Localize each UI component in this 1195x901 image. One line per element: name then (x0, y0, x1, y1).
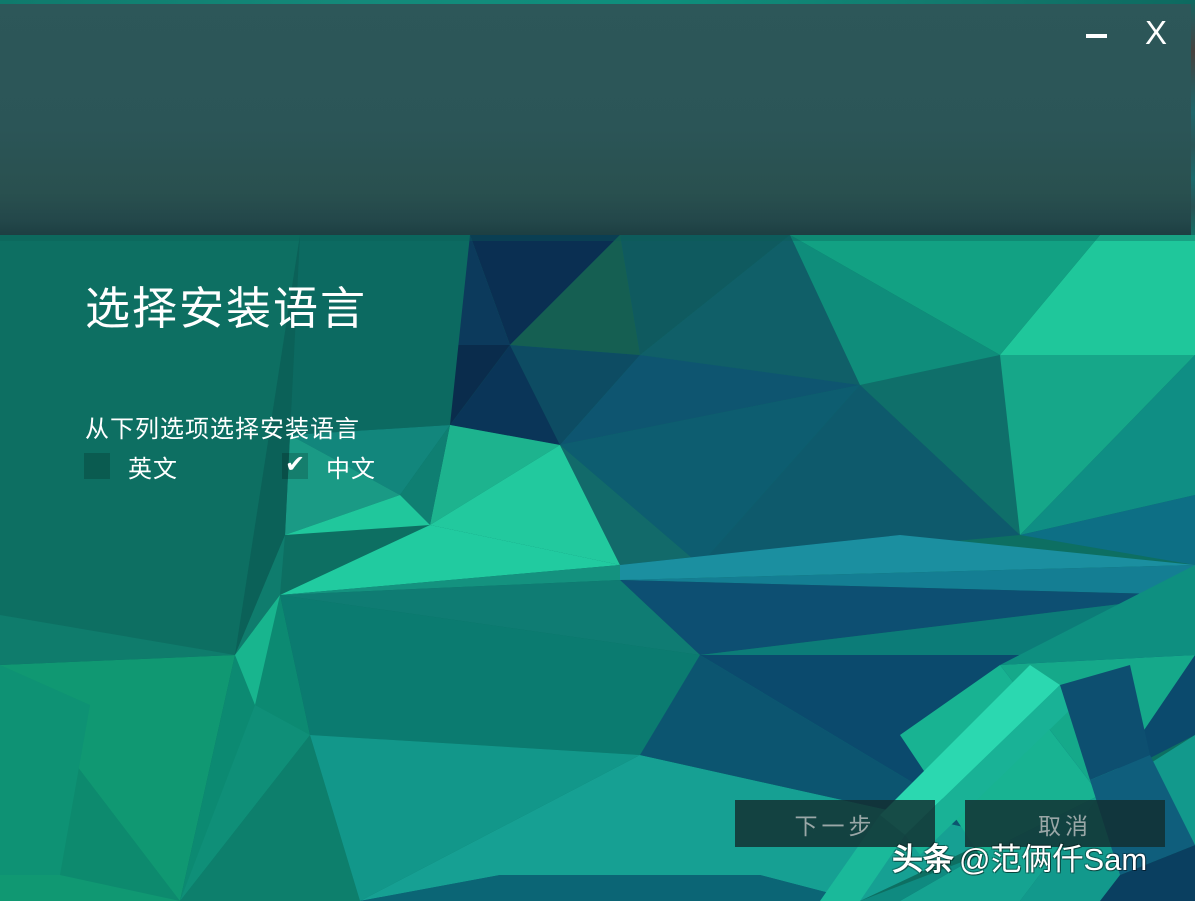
watermark-brand: 头条 (892, 842, 954, 877)
language-option-chinese[interactable]: ✔ 中文 (282, 449, 376, 483)
installer-content: 选择安装语言 从下列选项选择安装语言 英文 ✔ 中文 下一步 取消 (0, 235, 1195, 901)
installer-window: X (0, 0, 1195, 901)
language-label-chinese: 中文 (326, 449, 376, 484)
title-bar: X (0, 0, 1195, 235)
prompt-label: 从下列选项选择安装语言 (85, 409, 360, 444)
minimize-button[interactable] (1079, 18, 1113, 52)
watermark: 头条@范俩仟Sam (892, 834, 1147, 879)
checkmark-icon-english (84, 449, 110, 479)
checkmark-icon-chinese: ✔ (282, 449, 308, 479)
watermark-handle: @范俩仟Sam (959, 842, 1147, 877)
checkbox-english[interactable] (84, 453, 110, 479)
page-title: 选择安装语言 (85, 283, 367, 335)
close-icon: X (1145, 14, 1167, 51)
close-button[interactable]: X (1138, 16, 1174, 54)
installer-body: 选择安装语言 从下列选项选择安装语言 英文 ✔ 中文 下一步 取消 (0, 235, 1195, 901)
language-label-english: 英文 (128, 449, 178, 484)
checkbox-chinese[interactable]: ✔ (282, 453, 308, 479)
language-option-group: 英文 ✔ 中文 (84, 449, 484, 483)
titlebar-right-edge-strip (1191, 0, 1195, 235)
titlebar-accent-strip (0, 0, 1195, 4)
minimize-icon (1086, 34, 1107, 38)
language-option-english[interactable]: 英文 (84, 449, 178, 483)
